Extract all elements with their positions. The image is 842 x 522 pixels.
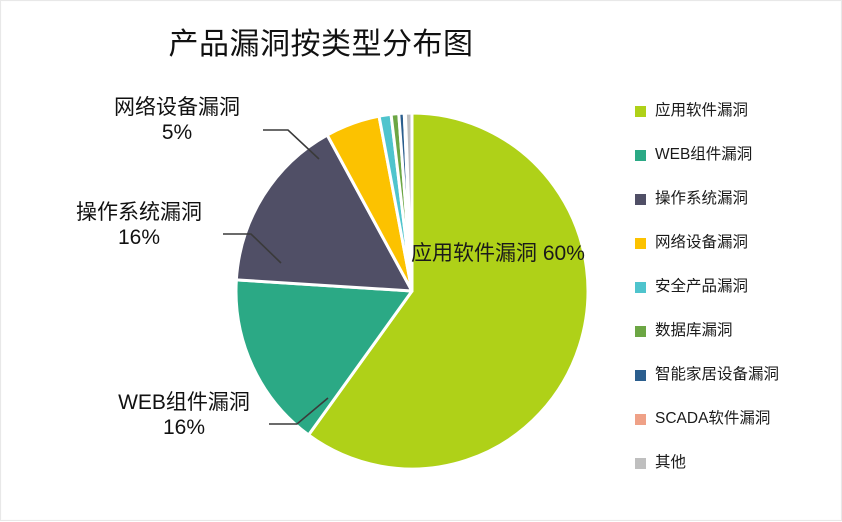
pie-label-application-percent: 60% [543,242,585,265]
legend-item-label: SCADA软件漏洞 [655,411,770,427]
pie-label-os: 操作系统漏洞 16% [49,201,229,251]
legend-item[interactable]: SCADA软件漏洞 [635,397,841,441]
pie-label-web-name: WEB组件漏洞 [118,391,250,414]
pie-label-application-name: 应用软件漏洞 [411,242,537,265]
pie-label-network: 网络设备漏洞 5% [87,96,267,146]
pie-slices-group [236,113,588,469]
pie-label-network-percent: 5% [87,121,267,146]
legend-item-label: 应用软件漏洞 [655,103,748,119]
legend-item[interactable]: WEB组件漏洞 [635,133,841,177]
legend-item-label: 操作系统漏洞 [655,191,748,207]
legend-item-label: 网络设备漏洞 [655,235,748,251]
legend-swatch-icon [635,370,646,381]
legend-item[interactable]: 操作系统漏洞 [635,177,841,221]
pie-label-network-name: 网络设备漏洞 [114,96,240,119]
legend-item-label: 数据库漏洞 [655,323,733,339]
pie-label-web-percent: 16% [89,416,279,441]
legend-swatch-icon [635,326,646,337]
pie-label-web: WEB组件漏洞 16% [89,391,279,441]
legend-swatch-icon [635,150,646,161]
legend-item[interactable]: 智能家居设备漏洞 [635,353,841,397]
legend-item[interactable]: 数据库漏洞 [635,309,841,353]
legend-swatch-icon [635,414,646,425]
legend-item-label: 其他 [655,455,686,471]
legend-item-label: 智能家居设备漏洞 [655,367,779,383]
pie-label-application: 应用软件漏洞 60% [411,242,581,267]
legend-item[interactable]: 网络设备漏洞 [635,221,841,265]
legend: 应用软件漏洞WEB组件漏洞操作系统漏洞网络设备漏洞安全产品漏洞数据库漏洞智能家居… [635,89,841,485]
legend-swatch-icon [635,282,646,293]
legend-swatch-icon [635,238,646,249]
legend-item-label: 安全产品漏洞 [655,279,748,295]
legend-swatch-icon [635,106,646,117]
pie-label-os-name: 操作系统漏洞 [76,201,202,224]
pie-label-os-percent: 16% [49,226,229,251]
legend-item[interactable]: 其他 [635,441,841,485]
legend-item-label: WEB组件漏洞 [655,147,752,163]
chart-container: 产品漏洞按类型分布图 网络设备漏洞 5% 操作系统漏洞 16% WEB组件漏洞 … [0,0,842,521]
legend-item[interactable]: 安全产品漏洞 [635,265,841,309]
legend-swatch-icon [635,458,646,469]
legend-item[interactable]: 应用软件漏洞 [635,89,841,133]
legend-swatch-icon [635,194,646,205]
